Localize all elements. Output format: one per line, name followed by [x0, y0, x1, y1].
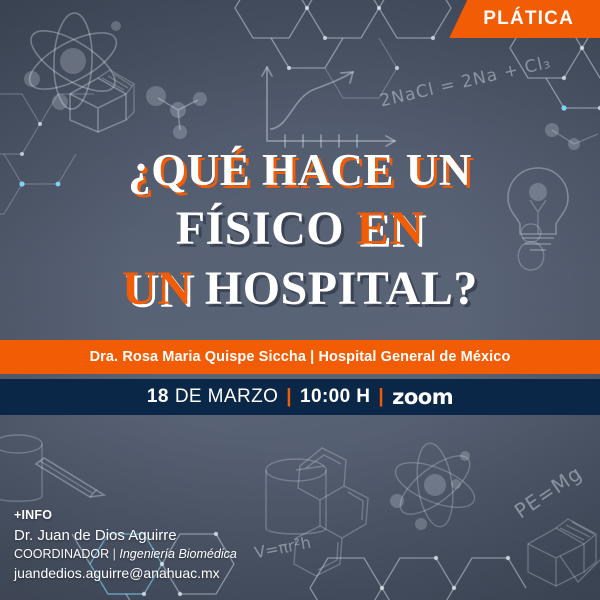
event-time: 10:00 H [300, 386, 370, 408]
title-word-un: UN [122, 262, 192, 315]
speaker-bar: Dra. Rosa Maria Quispe Siccha | Hospital… [0, 340, 600, 374]
contact-role: COORDINADOR [14, 547, 109, 561]
poster-canvas: 2NaCl = 2Na + Cl₃ [0, 0, 600, 600]
page-title: ¿QUÉ HACE UN FÍSICO EN UN HOSPITAL? [0, 148, 600, 325]
platica-badge: PLÁTICA [449, 0, 600, 38]
title-word-en: EN [357, 202, 425, 255]
event-separator-1: | [286, 386, 292, 408]
title-line-1: ¿QUÉ HACE UN [0, 148, 600, 193]
title-word-hospital: HOSPITAL? [205, 262, 478, 315]
title-line-2: FÍSICO EN [0, 205, 600, 253]
contact-role-line: COORDINADOR | Ingeniería Biomédica [14, 546, 237, 564]
contact-name: Dr. Juan de Dios Aguirre [14, 525, 237, 546]
footer-contact-block: +INFO Dr. Juan de Dios Aguirre COORDINAD… [14, 507, 237, 584]
platica-badge-label: PLÁTICA [483, 8, 574, 30]
contact-email[interactable]: juandedios.aguirre@anahuac.mx [14, 564, 237, 584]
event-day: 18 [147, 386, 169, 408]
event-month: DE MARZO [175, 386, 278, 408]
more-info-label: +INFO [14, 507, 237, 525]
title-line-3: UN HOSPITAL? [0, 265, 600, 313]
contact-department: Ingeniería Biomédica [119, 547, 236, 561]
role-separator: | [113, 547, 116, 561]
title-word-fisico: FÍSICO [176, 202, 344, 255]
event-details-bar: 18 DE MARZO | 10:00 H | zoom [0, 379, 600, 415]
event-separator-2: | [378, 386, 384, 408]
zoom-logo: zoom [392, 385, 453, 409]
speaker-text: Dra. Rosa Maria Quispe Siccha | Hospital… [90, 349, 511, 365]
title-line-1-text: ¿QUÉ HACE UN [128, 145, 472, 195]
